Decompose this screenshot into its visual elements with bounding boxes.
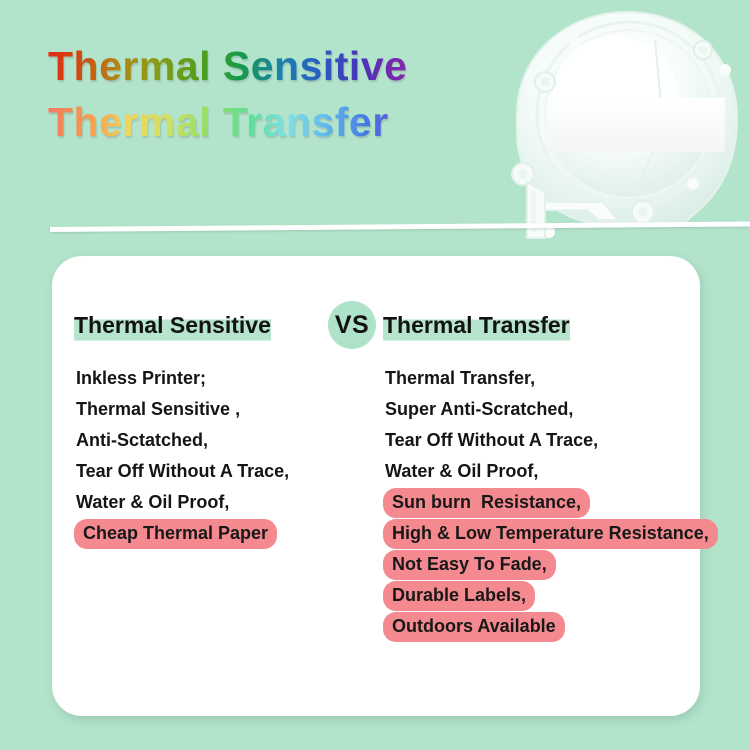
feature-text: Sun burn Resistance, xyxy=(383,488,590,518)
feature-item: Thermal Transfer, xyxy=(383,364,693,395)
feature-text: High & Low Temperature Resistance, xyxy=(383,519,718,549)
title-line-thermal-transfer: Thermal Transfer xyxy=(48,94,518,150)
feature-item-highlighted: Durable Labels, xyxy=(383,581,693,612)
feature-text: Durable Labels, xyxy=(383,581,535,611)
feature-text: Super Anti-Scratched, xyxy=(383,395,573,425)
feature-text: Cheap Thermal Paper xyxy=(74,519,277,549)
feature-item: Super Anti-Scratched, xyxy=(383,395,693,426)
column-heading-thermal-sensitive: Thermal Sensitive xyxy=(74,308,271,342)
feature-text: Not Easy To Fade, xyxy=(383,550,556,580)
comparison-card: Thermal Sensitive VS Thermal Transfer In… xyxy=(52,256,700,716)
vs-label: VS xyxy=(335,313,369,338)
poster-title: Thermal Sensitive Thermal Transfer xyxy=(48,38,518,150)
feature-text: Tear Off Without A Trace, xyxy=(74,457,289,487)
feature-item: Water & Oil Proof, xyxy=(74,488,354,519)
feature-item-highlighted: Sun burn Resistance, xyxy=(383,488,693,519)
feature-text: Thermal Transfer, xyxy=(383,364,535,394)
feature-item: Thermal Sensitive , xyxy=(74,395,354,426)
feature-list-thermal-transfer: Thermal Transfer, Super Anti-Scratched, … xyxy=(383,364,693,643)
feature-text: Tear Off Without A Trace, xyxy=(383,426,598,456)
feature-item: Water & Oil Proof, xyxy=(383,457,693,488)
feature-text: Thermal Sensitive , xyxy=(74,395,240,425)
column-heading-thermal-transfer: Thermal Transfer xyxy=(383,308,570,342)
feature-item-highlighted: Cheap Thermal Paper xyxy=(74,519,354,550)
feature-item-highlighted: Not Easy To Fade, xyxy=(383,550,693,581)
feature-item: Tear Off Without A Trace, xyxy=(383,426,693,457)
feature-text: Water & Oil Proof, xyxy=(74,488,229,518)
comparison-header-row: Thermal Sensitive VS Thermal Transfer xyxy=(52,308,700,354)
feature-list-thermal-sensitive: Inkless Printer; Thermal Sensitive , Ant… xyxy=(74,364,354,550)
feature-item: Inkless Printer; xyxy=(74,364,354,395)
feature-item: Tear Off Without A Trace, xyxy=(74,457,354,488)
feature-text: Water & Oil Proof, xyxy=(383,457,538,487)
title-line-thermal-sensitive: Thermal Sensitive xyxy=(48,38,518,94)
product-photo-label-tape-cartridge xyxy=(487,6,750,242)
feature-item-highlighted: Outdoors Available xyxy=(383,612,693,643)
feature-item: Anti-Sctatched, xyxy=(74,426,354,457)
feature-item-highlighted: High & Low Temperature Resistance, xyxy=(383,519,693,550)
feature-text: Outdoors Available xyxy=(383,612,565,642)
feature-text: Inkless Printer; xyxy=(74,364,206,394)
vs-badge: VS xyxy=(328,301,376,349)
poster-canvas: Thermal Sensitive Thermal Transfer Therm… xyxy=(0,0,750,750)
feature-text: Anti-Sctatched, xyxy=(74,426,208,456)
